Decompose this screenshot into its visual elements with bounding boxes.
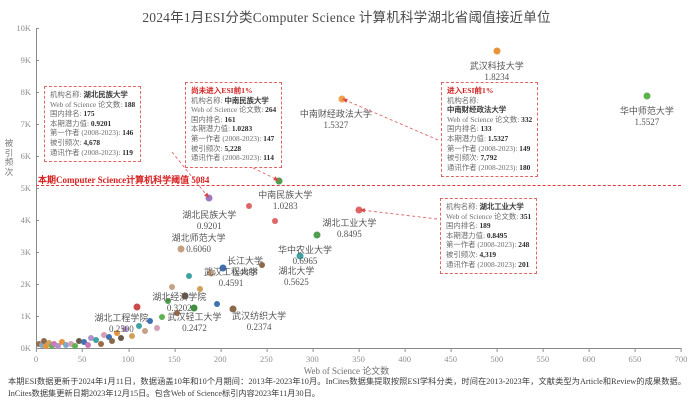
x-tick-label: 100 [122,348,135,364]
annotation-row: 国内排名: 133 [447,124,532,134]
point-label: 华中师范大学1.5527 [620,106,674,128]
point-label: 湖北大学0.5625 [278,266,314,288]
annotation-box-hubei-gongye: 机构名称: 湖北工业大学Web of Science 论文数: 351国内排名:… [440,198,537,274]
x-tick-label: 150 [168,348,181,364]
annotation-row-value: 175 [83,109,94,118]
annotation-row-value: 1.5327 [488,134,508,143]
data-point[interactable] [72,343,78,349]
annotation-row-label: 被引频次: [50,138,83,147]
point-label-name: 华中师范大学 [620,106,674,116]
annotation-row: 机构名称: 湖北民族大学 [50,90,135,100]
data-point[interactable] [272,218,278,224]
annotation-row-label: 本期潜力值: [50,119,91,128]
point-label-value: 0.8495 [322,229,376,240]
annotation-row-label: 通讯作者 (2008-2023): [447,163,519,172]
point-label-value: 0.6965 [278,256,332,267]
data-point-labeled[interactable] [493,48,500,55]
annotation-row-label: 第一作者 (2008-2023): [447,144,519,153]
data-point-labeled[interactable] [338,95,345,102]
x-tick-label: 350 [352,348,365,364]
annotation-row: 机构名称: 湖北工业大学 [446,202,531,212]
annotation-row: 第一作者 (2008-2023): 248 [446,240,531,250]
point-label-name: 武汉工程大学 [204,267,258,277]
annotation-row-value: 中南民族大学 [224,96,268,105]
annotation-row-label: 本期潜力值: [191,124,232,133]
annotation-row: 本期潜力值: 0.9201 [50,119,135,129]
annotation-row: 通讯作者 (2008-2023): 119 [50,148,135,158]
point-label-value: 0.9201 [182,221,236,232]
point-label-value: 0.6060 [172,244,226,255]
chart-page: 2024年1月ESI分类Computer Science 计算机科学湖北省阈值接… [0,0,693,403]
annotation-row: 第一作者 (2008-2023): 147 [191,134,276,144]
data-point[interactable] [98,341,104,347]
annotation-row-label: 本期潜力值: [446,231,487,240]
point-label-name: 湖北经济学院 [152,292,206,302]
annotation-row: 通讯作者 (2008-2023): 201 [446,260,531,270]
annotation-row-value: 0.8495 [487,231,507,240]
point-label-name: 湖北民族大学 [182,210,236,220]
annotation-row-value: 114 [263,153,274,162]
y-tick-label: 2K [21,279,36,289]
point-label-value: 0.2500 [94,324,148,335]
y-tick-label: 5K [21,183,36,193]
annotation-row-value: 180 [519,163,530,172]
annotation-row-value: 湖北民族大学 [83,90,127,99]
annotation-row-value: 149 [519,144,530,153]
annotation-row: 通讯作者 (2008-2023): 114 [191,153,276,163]
data-point[interactable] [109,338,115,344]
x-tick-label: 450 [444,348,457,364]
data-point[interactable] [118,335,124,341]
x-tick-label: 0 [34,348,38,364]
annotation-row-value: 161 [224,115,235,124]
point-label: 湖北工业大学0.8495 [322,218,376,240]
annotation-row-value: 119 [122,148,133,157]
annotation-row: 机构名称: [447,96,532,106]
x-tick-label: 50 [78,348,87,364]
annotation-row-value: 201 [518,260,529,269]
annotation-row: 被引频次: 7,792 [447,153,532,163]
annotation-row-value: 中南财经政法大学 [447,105,506,114]
point-label-name: 武汉纺织大学 [232,311,286,321]
annotation-row: 通讯作者 (2008-2023): 180 [447,163,532,173]
annotation-row-value: 1.0283 [232,124,252,133]
annotation-row-label: 机构名称: [191,96,224,105]
data-point-labeled[interactable] [134,304,141,311]
data-point-labeled[interactable] [356,206,363,213]
threshold-label: 本期Computer Science计算机科学阈值 5084 [38,173,209,186]
y-tick-label: 6K [21,151,36,161]
annotation-row-label: Web of Science 论文数: [191,105,265,114]
y-tick-label: 3K [21,247,36,257]
point-label-value: 0.4591 [204,278,258,289]
annotation-header: 进入ESI前1% [447,86,532,96]
point-label-name: 中南民族大学 [258,190,312,200]
point-label-value: 0.5625 [278,277,314,288]
point-label: 湖北师范大学0.6060 [172,233,226,255]
annotation-row-value: 0.9201 [91,119,111,128]
x-tick-label: 300 [306,348,319,364]
point-label: 武汉工程大学0.4591 [204,267,258,289]
page-title: 2024年1月ESI分类Computer Science 计算机科学湖北省阈值接… [0,6,693,26]
point-label-name: 武汉科技大学 [470,61,524,71]
annotation-box-hubei-minzu: 机构名称: 湖北民族大学Web of Science 论文数: 188国内排名:… [44,86,141,162]
point-label-value: 0.2374 [232,322,286,333]
annotation-row: 被引频次: 4,678 [50,138,135,148]
y-tick-label: 8K [21,87,36,97]
annotation-row: 本期潜力值: 1.0283 [191,124,276,134]
x-tick-label: 700 [675,348,688,364]
y-tick-label: 1K [21,311,36,321]
data-point-labeled[interactable] [276,177,283,184]
data-point[interactable] [85,342,91,348]
annotation-row-label: 第一作者 (2008-2023): [446,240,518,249]
annotation-row-label: 机构名称: [446,202,479,211]
annotation-header: 尚未进入ESI前1% [191,86,276,96]
point-label: 湖北民族大学0.9201 [182,210,236,232]
point-label-value: 1.5527 [620,117,674,128]
annotation-row: Web of Science 论文数: 264 [191,105,276,115]
annotation-row-label: 通讯作者 (2008-2023): [50,148,122,157]
point-label: 武汉纺织大学0.2374 [232,311,286,333]
point-label: 湖北经济学院0.3202 [152,292,206,314]
annotation-row-label: 国内排名: [446,221,479,230]
point-label: 武汉轻工大学0.2472 [167,312,221,334]
y-tick-label: 4K [21,215,36,225]
annotation-row-value: 264 [265,105,276,114]
data-point-labeled[interactable] [314,231,321,238]
y-tick-label: 7K [21,119,36,129]
point-label: 武汉科技大学1.8234 [470,61,524,83]
annotation-row-value: 7,792 [480,153,497,162]
point-label-name: 中南财经政法大学 [300,109,372,119]
data-point-labeled[interactable] [206,195,213,202]
annotation-row-label: 机构名称: [50,90,83,99]
point-label-value: 1.0283 [258,201,312,212]
annotation-row-label: 机构名称: [447,96,479,105]
point-label-name: 长江大学 [227,256,263,266]
point-label: 华中农业大学0.6965 [278,245,332,267]
annotation-row-value: 4,319 [479,250,496,259]
point-label: 中南民族大学1.0283 [258,190,312,212]
data-point[interactable] [186,273,192,279]
annotation-row: 被引频次: 5,228 [191,144,276,154]
scatter-plot-area: 0K1K2K3K4K5K6K7K8K9K10K 0501001502002503… [36,28,681,348]
annotation-row-value: 5,228 [224,144,241,153]
annotation-row-label: 被引频次: [447,153,480,162]
data-point-labeled[interactable] [643,92,650,99]
data-point[interactable] [154,325,160,331]
data-point[interactable] [159,314,165,320]
point-label-value: 0.2472 [167,323,221,334]
y-axis-label: 被引频次 [2,139,16,177]
annotation-row-value: 湖北工业大学 [479,202,523,211]
annotation-row-label: Web of Science 论文数: [50,100,124,109]
annotation-row: 机构名称: 中南民族大学 [191,96,276,106]
y-tick-label: 9K [21,55,36,65]
annotation-row: 中南财经政法大学 [447,105,532,115]
annotation-row-label: 被引频次: [191,144,224,153]
annotation-row-label: 本期潜力值: [447,134,488,143]
annotation-row: 国内排名: 175 [50,109,135,119]
data-point[interactable] [214,301,220,307]
point-label-name: 湖北工业大学 [322,218,376,228]
annotation-row: 本期潜力值: 1.5327 [447,134,532,144]
annotation-row: 国内排名: 161 [191,115,276,125]
annotation-box-zhongnan-minzu: 尚未进入ESI前1%机构名称: 中南民族大学Web of Science 论文数… [185,82,282,168]
x-tick-label: 200 [214,348,227,364]
point-label-name: 湖北工程学院 [94,313,148,323]
point-label: 中南财经政法大学1.5327 [300,109,372,131]
annotation-row: Web of Science 论文数: 332 [447,115,532,125]
annotation-row-label: Web of Science 论文数: [446,212,520,221]
annotation-row: Web of Science 论文数: 351 [446,212,531,222]
annotation-row-label: Web of Science 论文数: [447,115,521,124]
annotation-row: 第一作者 (2008-2023): 146 [50,128,135,138]
point-label-name: 华中农业大学 [278,245,332,255]
annotation-row-label: 被引频次: [446,250,479,259]
annotation-row-label: 国内排名: [50,109,83,118]
annotation-row: Web of Science 论文数: 188 [50,100,135,110]
annotation-row-value: 248 [518,240,529,249]
annotation-row-label: 国内排名: [447,124,480,133]
annotation-row-value: 188 [124,100,135,109]
point-label: 湖北工程学院0.2500 [94,313,148,335]
annotation-row: 被引频次: 4,319 [446,250,531,260]
annotation-row: 本期潜力值: 0.8495 [446,231,531,241]
point-label-value: 1.5327 [300,120,372,131]
x-tick-label: 550 [536,348,549,364]
annotation-row-value: 189 [479,221,490,230]
point-label-name: 湖北大学 [278,266,314,276]
annotation-row-value: 332 [521,115,532,124]
x-tick-label: 400 [398,348,411,364]
data-point[interactable] [246,203,252,209]
footer-note: 本期ESI数据更新于2024年1月11日，数据涵盖10年和10个月期间：2013… [8,376,686,399]
annotation-row-label: 通讯作者 (2008-2023): [446,260,518,269]
annotation-row-value: 351 [520,212,531,221]
x-tick-label: 600 [582,348,595,364]
annotation-row: 第一作者 (2008-2023): 149 [447,144,532,154]
data-point[interactable] [197,286,203,292]
annotation-row: 国内排名: 189 [446,221,531,231]
annotation-row-value: 146 [122,128,133,137]
annotation-row-label: 第一作者 (2008-2023): [50,128,122,137]
annotation-row-label: 第一作者 (2008-2023): [191,134,263,143]
annotation-row-value: 133 [480,124,491,133]
point-label-name: 湖北师范大学 [172,233,226,243]
x-tick-label: 500 [490,348,503,364]
annotation-row-label: 通讯作者 (2008-2023): [191,153,263,162]
annotation-box-zhongnan-caijing: 进入ESI前1%机构名称: 中南财经政法大学Web of Science 论文数… [441,82,538,177]
annotation-row-value: 147 [263,134,274,143]
annotation-row-value: 4,678 [83,138,100,147]
point-label-name: 武汉轻工大学 [167,312,221,322]
x-tick-label: 250 [260,348,273,364]
y-tick-label: 10K [16,23,36,33]
x-tick-label: 650 [629,348,642,364]
annotation-row-label: 国内排名: [191,115,224,124]
data-point[interactable] [169,284,175,290]
